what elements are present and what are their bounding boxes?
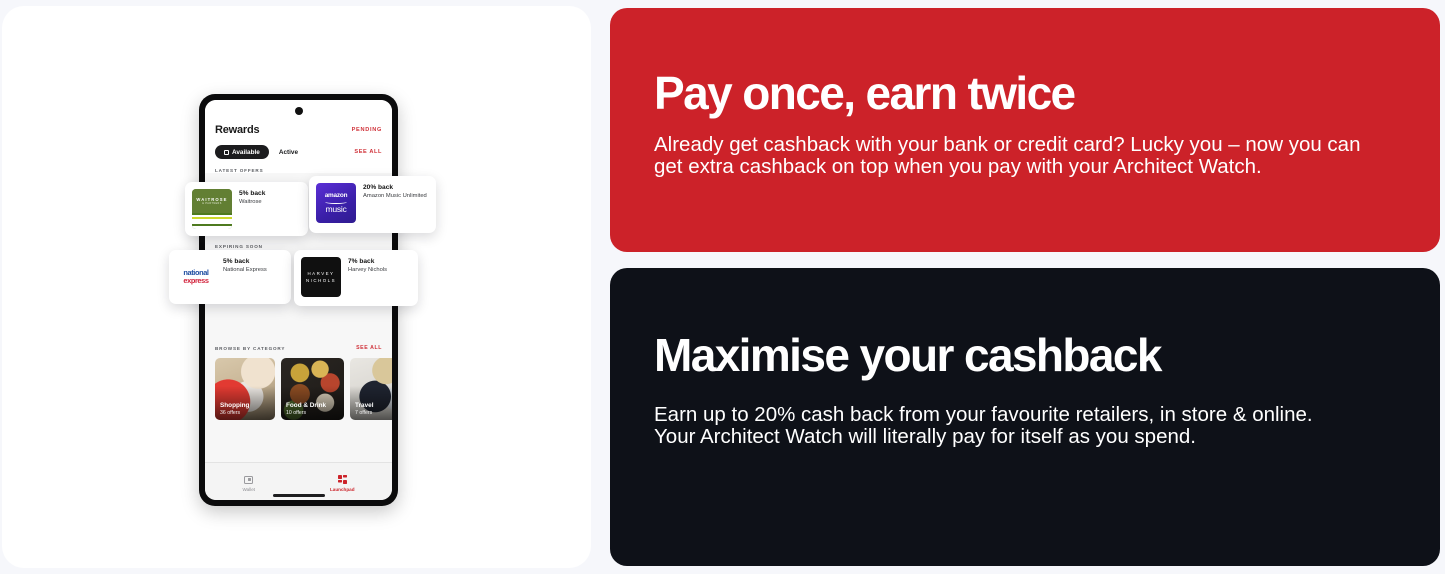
waitrose-logo-subtext: & PARTNERS	[202, 203, 221, 205]
waitrose-logo-text: WAITROSE	[196, 197, 227, 202]
see-all-offers-link[interactable]: SEE ALL	[354, 149, 382, 155]
category-card-travel[interactable]: Travel 7 offers	[350, 358, 392, 420]
bottom-navigation: Wallet Launchpad	[205, 462, 392, 500]
panel-maximise-your-cashback: Maximise your cashback Earn up to 20% ca…	[610, 268, 1440, 566]
offer-brand: Amazon Music Unlimited	[363, 193, 427, 201]
page-title: Rewards	[215, 124, 259, 136]
nav-item-launchpad[interactable]: Launchpad	[330, 475, 355, 492]
panel-body: Earn up to 20% cash back from your favou…	[654, 404, 1344, 447]
marketing-page: Rewards PENDING Available Active SEE ALL…	[0, 0, 1445, 574]
offer-brand: National Express	[223, 267, 267, 275]
harvey-nichols-logo-text: HARVEY	[308, 271, 335, 276]
browse-category-header: BROWSE BY CATEGORY SEE ALL	[205, 345, 392, 351]
amazon-music-logo: amazon music	[316, 183, 356, 223]
offer-card-amazon-music[interactable]: amazon music 20% back Amazon Music Unlim…	[309, 176, 436, 233]
category-offer-count: 10 offers	[286, 410, 306, 416]
tab-available-label: Available	[232, 149, 260, 156]
home-indicator	[273, 494, 325, 497]
tab-active[interactable]: Active	[279, 149, 298, 156]
offer-brand: Harvey Nichols	[348, 267, 387, 275]
phone-mockup-panel: Rewards PENDING Available Active SEE ALL…	[2, 6, 591, 568]
section-browse-by-category: BROWSE BY CATEGORY	[215, 346, 285, 351]
rewards-tab-row: Available Active SEE ALL	[215, 145, 382, 159]
front-camera-icon	[295, 107, 303, 115]
offer-card-waitrose[interactable]: WAITROSE & PARTNERS 5% back Waitrose	[185, 182, 308, 236]
harvey-nichols-logo: HARVEY NICHOLS	[301, 257, 341, 297]
nav-item-label: Launchpad	[330, 487, 355, 492]
national-express-logo: national express	[176, 257, 216, 297]
see-all-categories-link[interactable]: SEE ALL	[356, 345, 382, 351]
category-card-food-drink[interactable]: Food & Drink 10 offers	[281, 358, 344, 420]
pending-label[interactable]: PENDING	[352, 127, 382, 133]
nav-item-wallet[interactable]: Wallet	[242, 476, 255, 492]
category-list: Shopping 36 offers Food & Drink 10 offer…	[205, 358, 392, 420]
category-offer-count: 36 offers	[220, 410, 240, 416]
card-icon	[224, 150, 229, 155]
offer-cashback: 7% back	[348, 258, 387, 266]
tab-available[interactable]: Available	[215, 145, 269, 159]
section-expiring-soon: EXPIRING SOON	[205, 244, 392, 249]
harvey-nichols-logo-subtext: NICHOLS	[306, 278, 336, 283]
category-name: Shopping	[220, 402, 249, 409]
offer-cashback: 5% back	[239, 190, 265, 198]
category-name: Food & Drink	[286, 402, 326, 409]
offer-card-national-express[interactable]: national express 5% back National Expres…	[169, 250, 291, 304]
panel-pay-once-earn-twice: Pay once, earn twice Already get cashbac…	[610, 8, 1440, 252]
offer-cashback: 20% back	[363, 184, 427, 192]
offer-cashback: 5% back	[223, 258, 267, 266]
offer-card-harvey-nichols[interactable]: HARVEY NICHOLS 7% back Harvey Nichols	[294, 250, 418, 306]
nav-item-label: Wallet	[242, 487, 255, 492]
category-offer-count: 7 offers	[355, 410, 372, 416]
amazon-logo-text: amazon	[325, 193, 348, 199]
grid-icon	[338, 475, 347, 484]
wallet-icon	[244, 476, 253, 484]
national-express-logo-subtext: express	[183, 277, 208, 284]
panel-heading: Pay once, earn twice	[654, 8, 1396, 116]
panel-body: Already get cashback with your bank or c…	[654, 134, 1364, 177]
offer-brand: Waitrose	[239, 199, 265, 207]
rewards-title-row: Rewards PENDING	[215, 124, 382, 136]
waitrose-logo: WAITROSE & PARTNERS	[192, 189, 232, 229]
category-name: Travel	[355, 402, 373, 409]
panel-heading: Maximise your cashback	[654, 268, 1396, 378]
amazon-logo-subtext: music	[326, 205, 347, 214]
category-card-shopping[interactable]: Shopping 36 offers	[215, 358, 275, 420]
